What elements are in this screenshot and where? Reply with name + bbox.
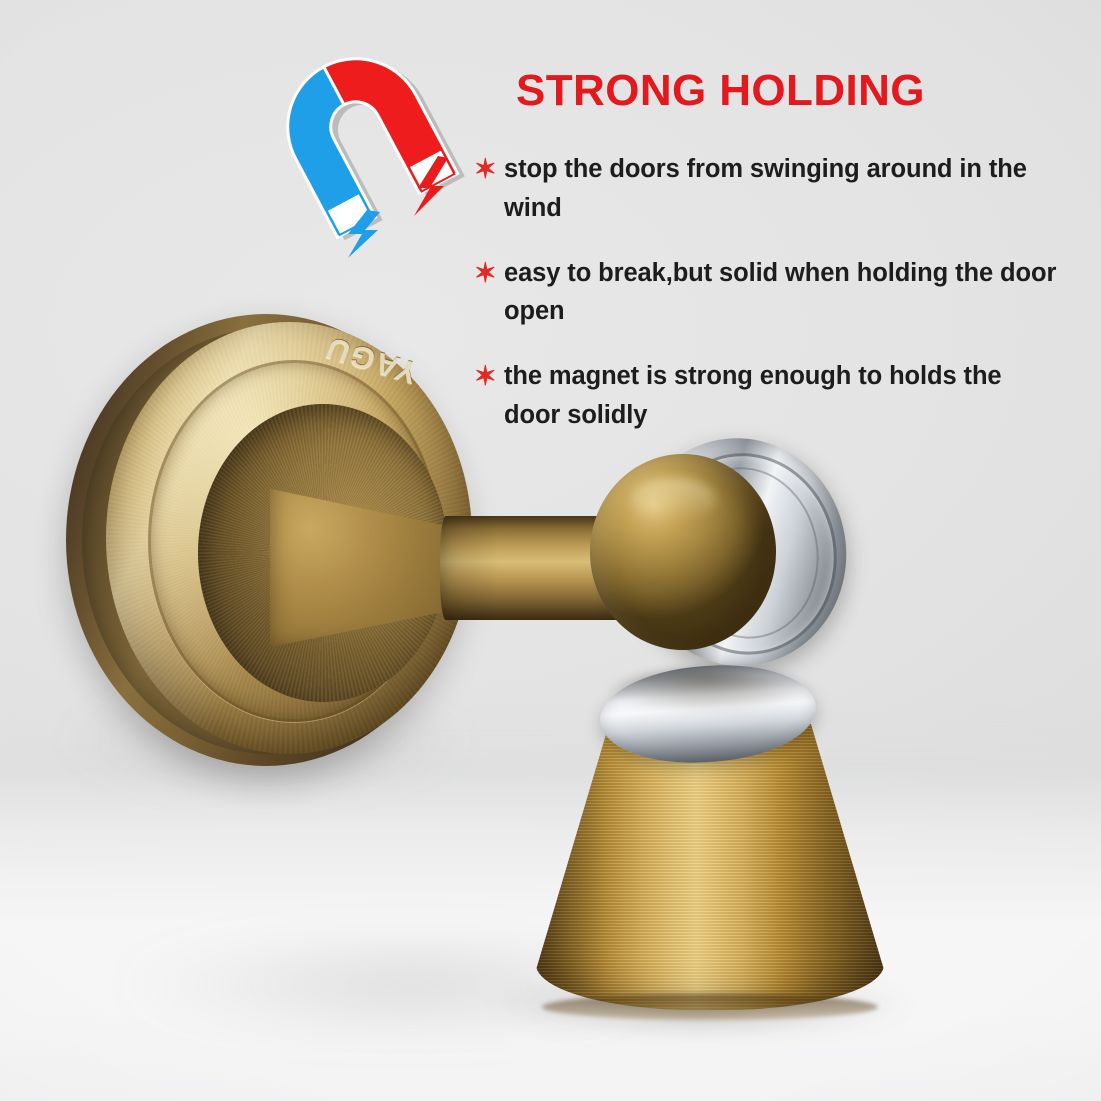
chrome-collar-shadow xyxy=(608,672,808,714)
floor-base-assembly xyxy=(508,662,908,1022)
feature-bullet-list: ✶ stop the doors from swinging around in… xyxy=(474,150,1064,435)
brushed-gold-cone-base xyxy=(536,724,884,1010)
list-item: ✶ easy to break,but solid when holding t… xyxy=(474,254,1064,332)
horseshoe-magnet-icon xyxy=(252,38,482,268)
wall-plate-assembly: YAGU xyxy=(62,300,492,790)
list-item: ✶ the magnet is strong enough to holds t… xyxy=(474,357,1064,435)
product-image-canvas: STRONG HOLDING ✶ stop the doors from swi… xyxy=(0,0,1101,1101)
star-bullet-icon: ✶ xyxy=(474,260,504,287)
feature-text-panel: STRONG HOLDING ✶ stop the doors from swi… xyxy=(474,68,1064,435)
star-bullet-icon: ✶ xyxy=(474,156,504,183)
brass-sphere-head xyxy=(590,454,776,650)
base-bottom-edge xyxy=(542,994,878,1020)
list-item: ✶ stop the doors from swinging around in… xyxy=(474,150,1064,228)
page-title: STRONG HOLDING xyxy=(516,68,1064,114)
list-item-label: easy to break,but solid when holding the… xyxy=(504,254,1064,332)
list-item-label: the magnet is strong enough to holds the… xyxy=(504,357,1064,435)
list-item-label: stop the doors from swinging around in t… xyxy=(504,150,1064,228)
